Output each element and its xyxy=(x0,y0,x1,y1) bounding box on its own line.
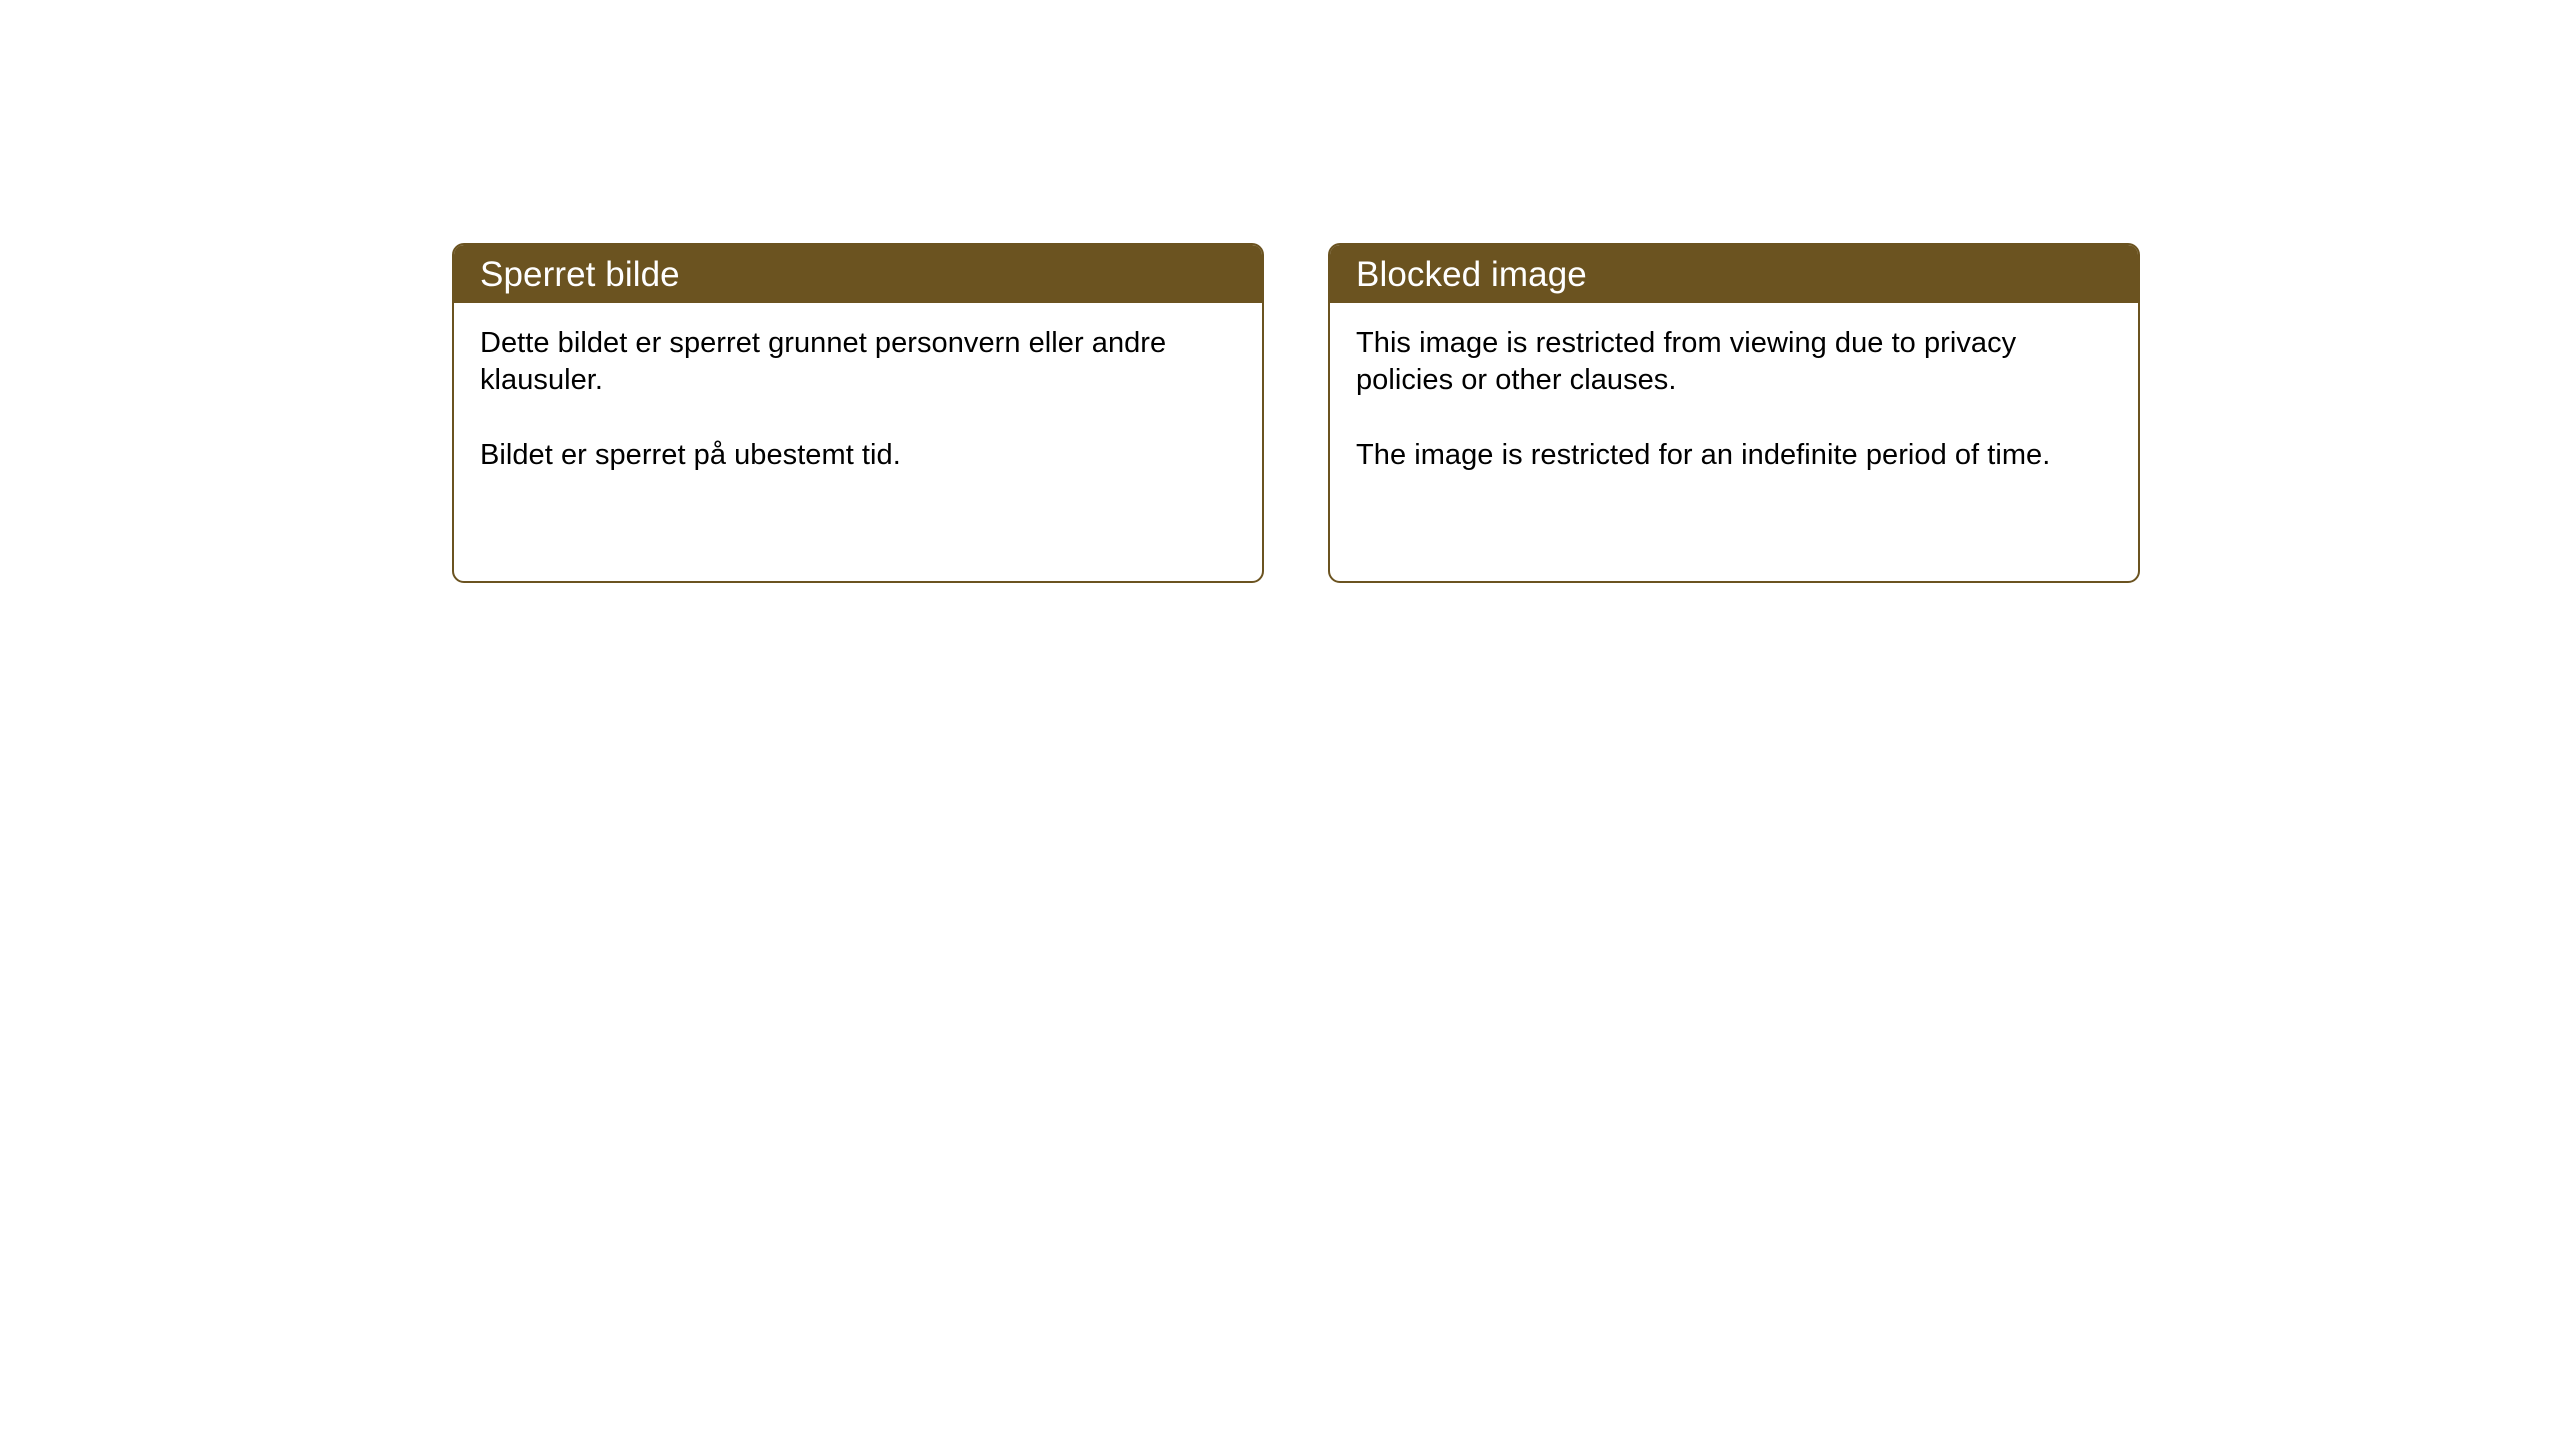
card-header-english: Blocked image xyxy=(1330,245,2138,303)
card-paragraph-duration-english: The image is restricted for an indefinit… xyxy=(1356,437,2112,474)
blocked-image-notice-card-english: Blocked image This image is restricted f… xyxy=(1328,243,2140,583)
page-root: Sperret bilde Dette bildet er sperret gr… xyxy=(0,0,2560,1440)
card-title-english: Blocked image xyxy=(1356,257,1587,292)
card-body-norwegian: Dette bildet er sperret grunnet personve… xyxy=(454,303,1262,474)
blocked-image-notice-card-norwegian: Sperret bilde Dette bildet er sperret gr… xyxy=(452,243,1264,583)
card-paragraph-reason-norwegian: Dette bildet er sperret grunnet personve… xyxy=(480,325,1236,399)
card-paragraph-duration-norwegian: Bildet er sperret på ubestemt tid. xyxy=(480,437,1236,474)
card-body-english: This image is restricted from viewing du… xyxy=(1330,303,2138,474)
card-title-norwegian: Sperret bilde xyxy=(480,257,680,292)
card-header-norwegian: Sperret bilde xyxy=(454,245,1262,303)
card-paragraph-reason-english: This image is restricted from viewing du… xyxy=(1356,325,2112,399)
